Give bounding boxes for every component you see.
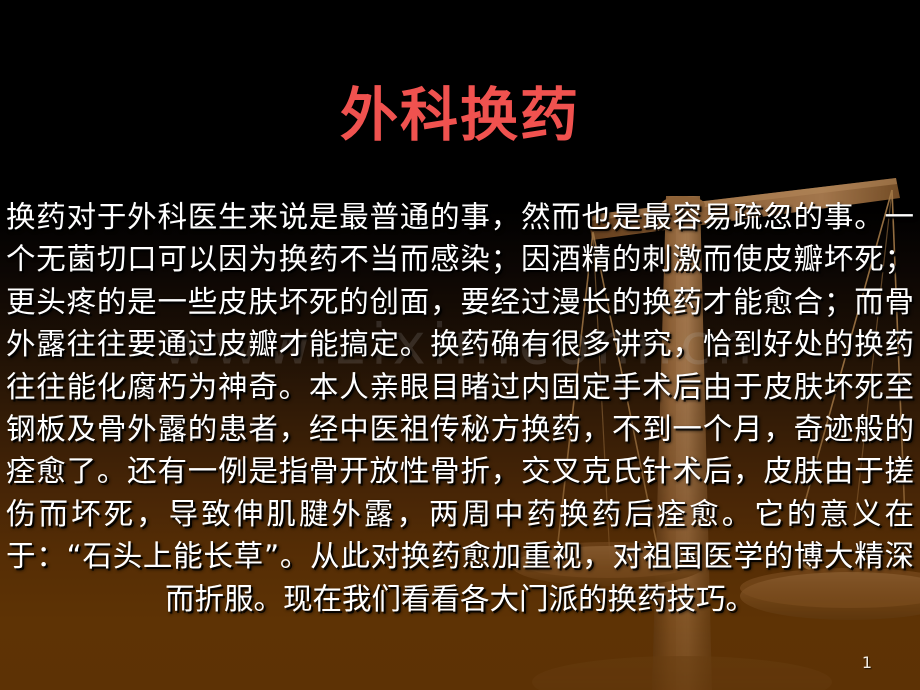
body-paragraph: 换药对于外科医生来说是最普通的事，然而也是最容易疏忽的事。一个无菌切口可以因为换… <box>6 196 914 620</box>
page-number: 1 <box>862 653 872 672</box>
presentation-slide: www.zixin.com.cn 外科换药 换药对于外科医生来说是最普通的事，然… <box>0 0 920 690</box>
slide-body-text: 换药对于外科医生来说是最普通的事，然而也是最容易疏忽的事。一个无菌切口可以因为换… <box>6 196 914 620</box>
slide-title: 外科换药 <box>0 82 920 148</box>
